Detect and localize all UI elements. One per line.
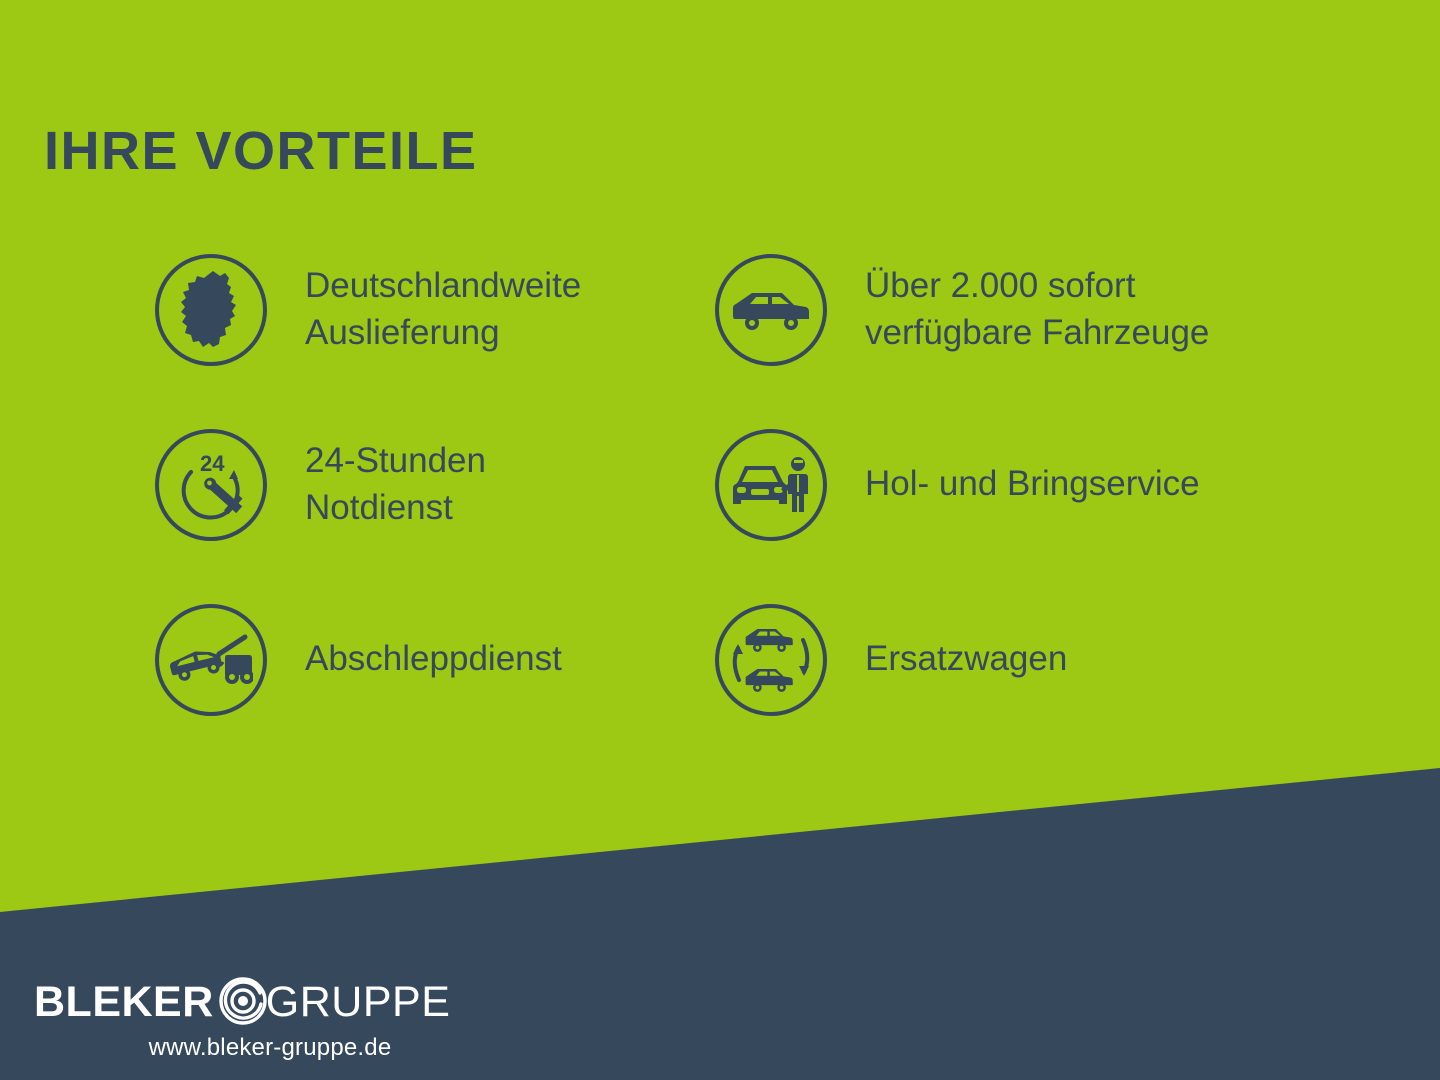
logo-name-light: GRUPPE <box>266 981 451 1024</box>
slide-canvas: IHRE VORTEILE Deutschlandweite Ausliefer… <box>0 0 1440 1080</box>
logo-name-bold: BLEKER <box>34 981 214 1024</box>
benefit-label: Hol- und Bringservice <box>865 461 1200 508</box>
two-cars-cycle-icon <box>715 604 827 716</box>
benefit-label: Deutschlandweite Auslieferung <box>305 263 581 356</box>
benefit-item-deutschlandweite-auslieferung: Deutschlandweite Auslieferung <box>155 222 715 397</box>
logo-wordmark: BLEKER GRUPPE <box>34 976 454 1028</box>
benefit-item-ersatzwagen: Ersatzwagen <box>715 572 1275 747</box>
benefit-item-24-stunden-notdienst: 24 24-Stunden Notdienst <box>155 397 715 572</box>
car-side-icon <box>715 254 827 366</box>
benefit-label: 24-Stunden Notdienst <box>305 438 486 531</box>
benefit-item-abschleppdienst: Abschleppdienst <box>155 572 715 747</box>
benefit-label: Abschleppdienst <box>305 636 562 683</box>
spiral-logo-icon <box>216 973 270 1032</box>
page-title: IHRE VORTEILE <box>44 124 478 178</box>
benefits-grid: Deutschlandweite Auslieferung Über 2.000… <box>0 222 1440 747</box>
brand-logo[interactable]: BLEKER GRUPPE www.bleker-gruppe.de <box>34 976 454 1062</box>
tow-truck-icon <box>155 604 267 716</box>
benefit-label: Über 2.000 sofort verfügbare Fahrzeuge <box>865 263 1209 356</box>
benefit-item-verfuegbare-fahrzeuge: Über 2.000 sofort verfügbare Fahrzeuge <box>715 222 1275 397</box>
icon-text-24: 24 <box>200 451 225 476</box>
24h-wrench-icon: 24 <box>155 429 267 541</box>
benefit-item-hol-und-bringservice: Hol- und Bringservice <box>715 397 1275 572</box>
germany-map-icon <box>155 254 267 366</box>
logo-website-url[interactable]: www.bleker-gruppe.de <box>34 1034 454 1062</box>
car-with-person-icon <box>715 429 827 541</box>
benefit-label: Ersatzwagen <box>865 636 1067 683</box>
